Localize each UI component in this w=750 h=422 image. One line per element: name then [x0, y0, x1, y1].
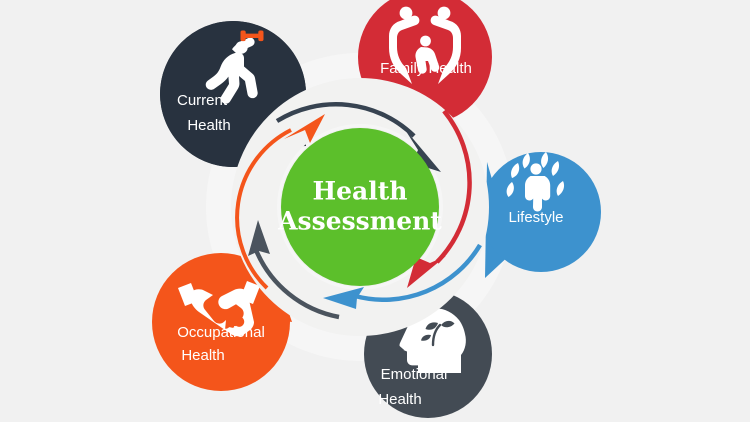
node-lifestyle-label-line1: Lifestyle	[508, 209, 563, 226]
node-current-health-label-line2: Health	[187, 117, 230, 134]
diagram-canvas: Current Health Family Health	[0, 0, 750, 422]
node-current-health-label-line1: Current	[177, 92, 228, 109]
node-family-health-label-line1: Family Health	[380, 60, 472, 77]
center-label-line1: Health	[313, 177, 408, 206]
node-lifestyle[interactable]: Lifestyle	[481, 152, 601, 278]
node-occupational-health-label-line2: Health	[181, 347, 224, 364]
node-occupational-health-label-line1: Occupational	[177, 324, 265, 341]
center-label-line2: Assessment	[277, 207, 442, 236]
node-emotional-health-label-line2: Health	[378, 391, 421, 408]
health-assessment-cycle-diagram: Current Health Family Health	[0, 0, 750, 422]
node-emotional-health-label-line1: Emotional	[381, 366, 448, 383]
